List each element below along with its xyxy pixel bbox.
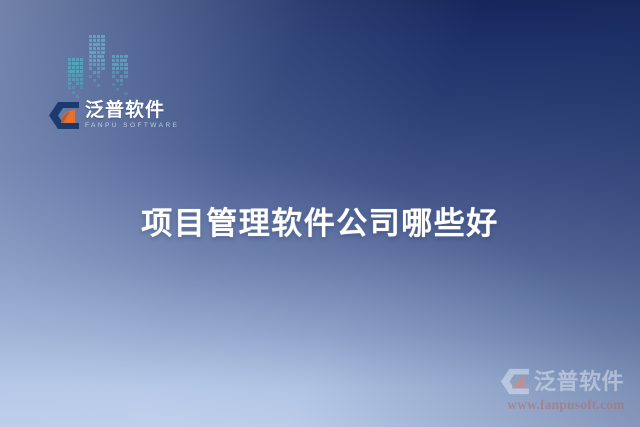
brand-logo: 泛普软件 FANPU SOFTWARE <box>48 101 179 130</box>
watermark: 泛普软件 www.fanpusoft.com <box>500 368 632 416</box>
headline-title: 项目管理软件公司哪些好 <box>0 198 640 243</box>
brand-name-cn: 泛普软件 <box>85 101 179 120</box>
brand-name-en: FANPU SOFTWARE <box>85 123 179 130</box>
watermark-brand-name: 泛普软件 <box>534 371 624 393</box>
banner-image: 泛普软件 FANPU SOFTWARE 项目管理软件公司哪些好 泛普软件 www… <box>0 0 640 427</box>
watermark-url: www.fanpusoft.com <box>500 397 632 413</box>
fanpu-hexagon-logo-icon <box>500 368 530 395</box>
fanpu-hexagon-logo-icon <box>48 101 80 130</box>
brand-logo-text: 泛普软件 FANPU SOFTWARE <box>85 101 179 130</box>
pixel-cityscape-graphic <box>66 31 136 103</box>
watermark-logo-row: 泛普软件 <box>500 368 632 395</box>
